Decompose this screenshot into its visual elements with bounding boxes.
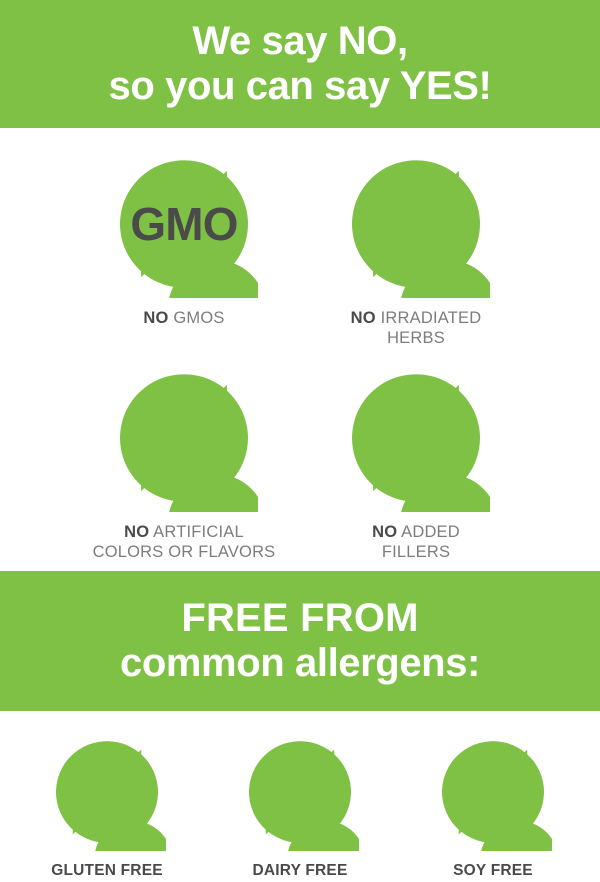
no-claim-added-fillers: NO ADDED FILLERS	[300, 364, 532, 562]
dairy-free-carton-icon	[241, 733, 359, 851]
no-added-fillers-icon	[342, 364, 490, 512]
no-claim-label: NO ADDED FILLERS	[372, 522, 460, 562]
allergen-line-1: FREE FROM	[181, 596, 418, 641]
gmo-letters: GMO	[130, 198, 237, 250]
no-text-line-1: ARTIFICIAL	[149, 523, 244, 541]
no-claims-section: GMO NO GMOS	[0, 128, 600, 571]
infographic-page: We say NO, so you can say YES!	[0, 0, 600, 882]
allergen-banner: FREE FROM common allergens:	[0, 571, 600, 711]
no-claim-artificial-colors: NO ARTIFICIAL COLORS OR FLAVORS	[68, 364, 300, 562]
no-claim-gmos: GMO NO GMOS	[68, 150, 300, 328]
no-prefix: NO	[124, 523, 149, 541]
allergen-claim-gluten: GLUTEN FREE	[11, 733, 204, 880]
no-text-line-1: GMOS	[169, 309, 225, 327]
allergen-label: SOY FREE	[453, 862, 533, 880]
allergen-label: GLUTEN FREE	[51, 862, 163, 880]
no-text-line-2: HERBS	[387, 329, 445, 347]
no-prefix: NO	[351, 309, 376, 327]
no-claims-row-1: GMO NO GMOS	[0, 150, 600, 348]
allergen-line-2: common allergens:	[120, 641, 480, 686]
allergen-label: DAIRY FREE	[252, 862, 347, 880]
no-text-line-2: COLORS OR FLAVORS	[93, 543, 276, 561]
no-text-line-1: ADDED	[397, 523, 460, 541]
no-text-line-1: IRRADIATED	[376, 309, 482, 327]
no-text-line-2: FILLERS	[382, 543, 450, 561]
allergen-claim-dairy: DAIRY FREE	[204, 733, 397, 880]
header-line-2: so you can say YES!	[109, 64, 492, 109]
allergen-free-section: GLUTEN FREE	[0, 711, 600, 880]
gluten-free-wheat-icon	[48, 733, 166, 851]
no-claim-irradiated-herbs: NO IRRADIATED HERBS	[300, 150, 532, 348]
no-irradiated-herbs-icon	[342, 150, 490, 298]
soy-free-pod-icon	[434, 733, 552, 851]
no-prefix: NO	[372, 523, 397, 541]
no-gmo-icon: GMO	[110, 150, 258, 298]
no-claim-label: NO GMOS	[143, 308, 224, 328]
no-claims-row-2: NO ARTIFICIAL COLORS OR FLAVORS	[0, 364, 600, 562]
header-banner: We say NO, so you can say YES!	[0, 0, 600, 128]
no-artificial-colors-flask-icon	[110, 364, 258, 512]
no-claim-label: NO ARTIFICIAL COLORS OR FLAVORS	[93, 522, 276, 562]
no-prefix: NO	[143, 309, 168, 327]
allergen-claim-soy: SOY FREE	[397, 733, 590, 880]
no-claim-label: NO IRRADIATED HERBS	[351, 308, 482, 348]
header-line-1: We say NO,	[192, 19, 407, 64]
